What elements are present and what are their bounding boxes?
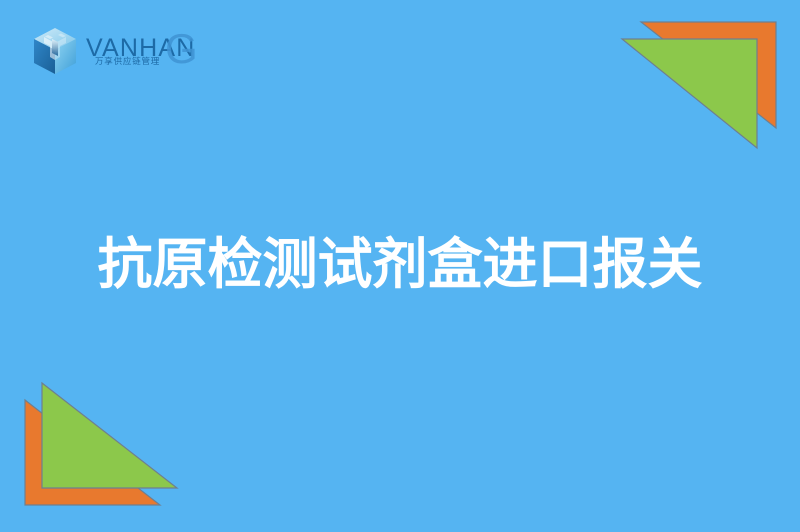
brand-wordmark-g: G xyxy=(165,28,198,70)
promo-banner: VANHAN G 万享供应链管理 抗原检测试剂盒进口报关 xyxy=(0,0,800,532)
vanhang-cube-logo-icon xyxy=(30,26,80,76)
brand-logo[interactable]: VANHAN G 万享供应链管理 xyxy=(30,24,196,78)
bottom-left-green-triangle xyxy=(42,383,177,488)
bottom-left-orange-triangle xyxy=(25,400,160,505)
brand-wordmark: VANHAN G 万享供应链管理 xyxy=(86,26,196,76)
brand-subtitle: 万享供应链管理 xyxy=(95,57,160,67)
top-right-orange-triangle xyxy=(641,22,776,128)
top-right-green-triangle xyxy=(622,39,757,148)
page-title: 抗原检测试剂盒进口报关 xyxy=(0,232,800,296)
